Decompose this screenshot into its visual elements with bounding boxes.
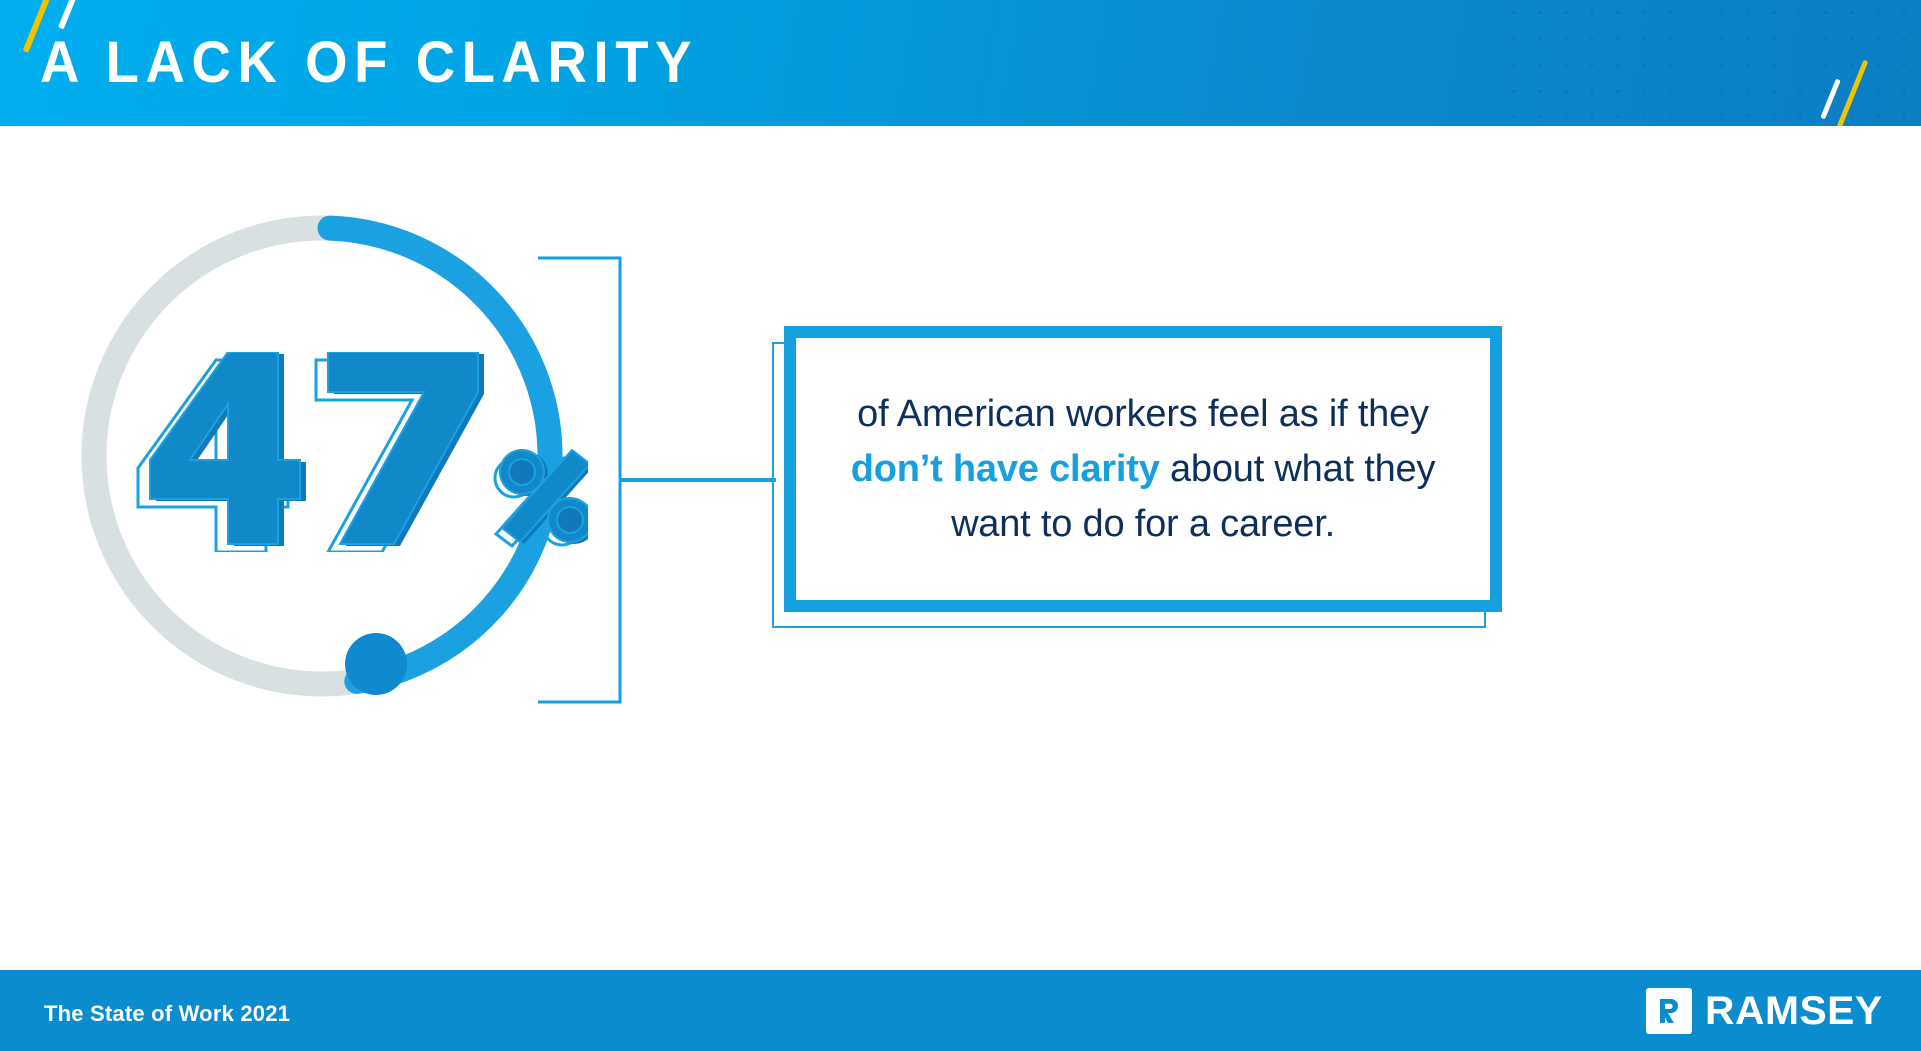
callout-box: of American workers feel as if they don’… <box>784 326 1514 624</box>
callout-statement: of American workers feel as if they don’… <box>808 387 1478 552</box>
infographic-canvas: A LACK OF CLARITY <box>0 0 1921 1051</box>
footer-source-label: The State of Work 2021 <box>44 1001 290 1027</box>
stat-value-svg <box>118 352 588 552</box>
ramsey-logo-mark-icon <box>1646 988 1692 1034</box>
callout-content: of American workers feel as if they don’… <box>808 350 1478 588</box>
stat-digit-7-face <box>328 352 478 544</box>
ramsey-logo-wordmark: RAMSEY <box>1705 991 1883 1031</box>
callout-bracket <box>530 250 780 710</box>
stat-value-group <box>118 352 588 552</box>
ramsey-r-glyph-icon <box>1654 996 1684 1026</box>
ramsey-logo[interactable]: RAMSEY <box>1646 988 1879 1034</box>
page-title: A LACK OF CLARITY <box>40 30 698 96</box>
stat-digit-4-face <box>150 352 300 544</box>
callout-text-prefix: of American workers feel as if they <box>857 393 1429 435</box>
decorative-slash-white-left-icon <box>58 0 80 30</box>
callout-outer-border: of American workers feel as if they don’… <box>784 326 1502 612</box>
header-banner: A LACK OF CLARITY <box>0 0 1921 126</box>
header-dot-pattern <box>1501 0 1921 126</box>
bracket-path <box>538 258 620 702</box>
ring-endpoint-dot-icon <box>345 633 407 695</box>
callout-text-highlight: don’t have clarity <box>851 448 1160 490</box>
footer-bar: The State of Work 2021 RAMSEY <box>0 970 1921 1051</box>
